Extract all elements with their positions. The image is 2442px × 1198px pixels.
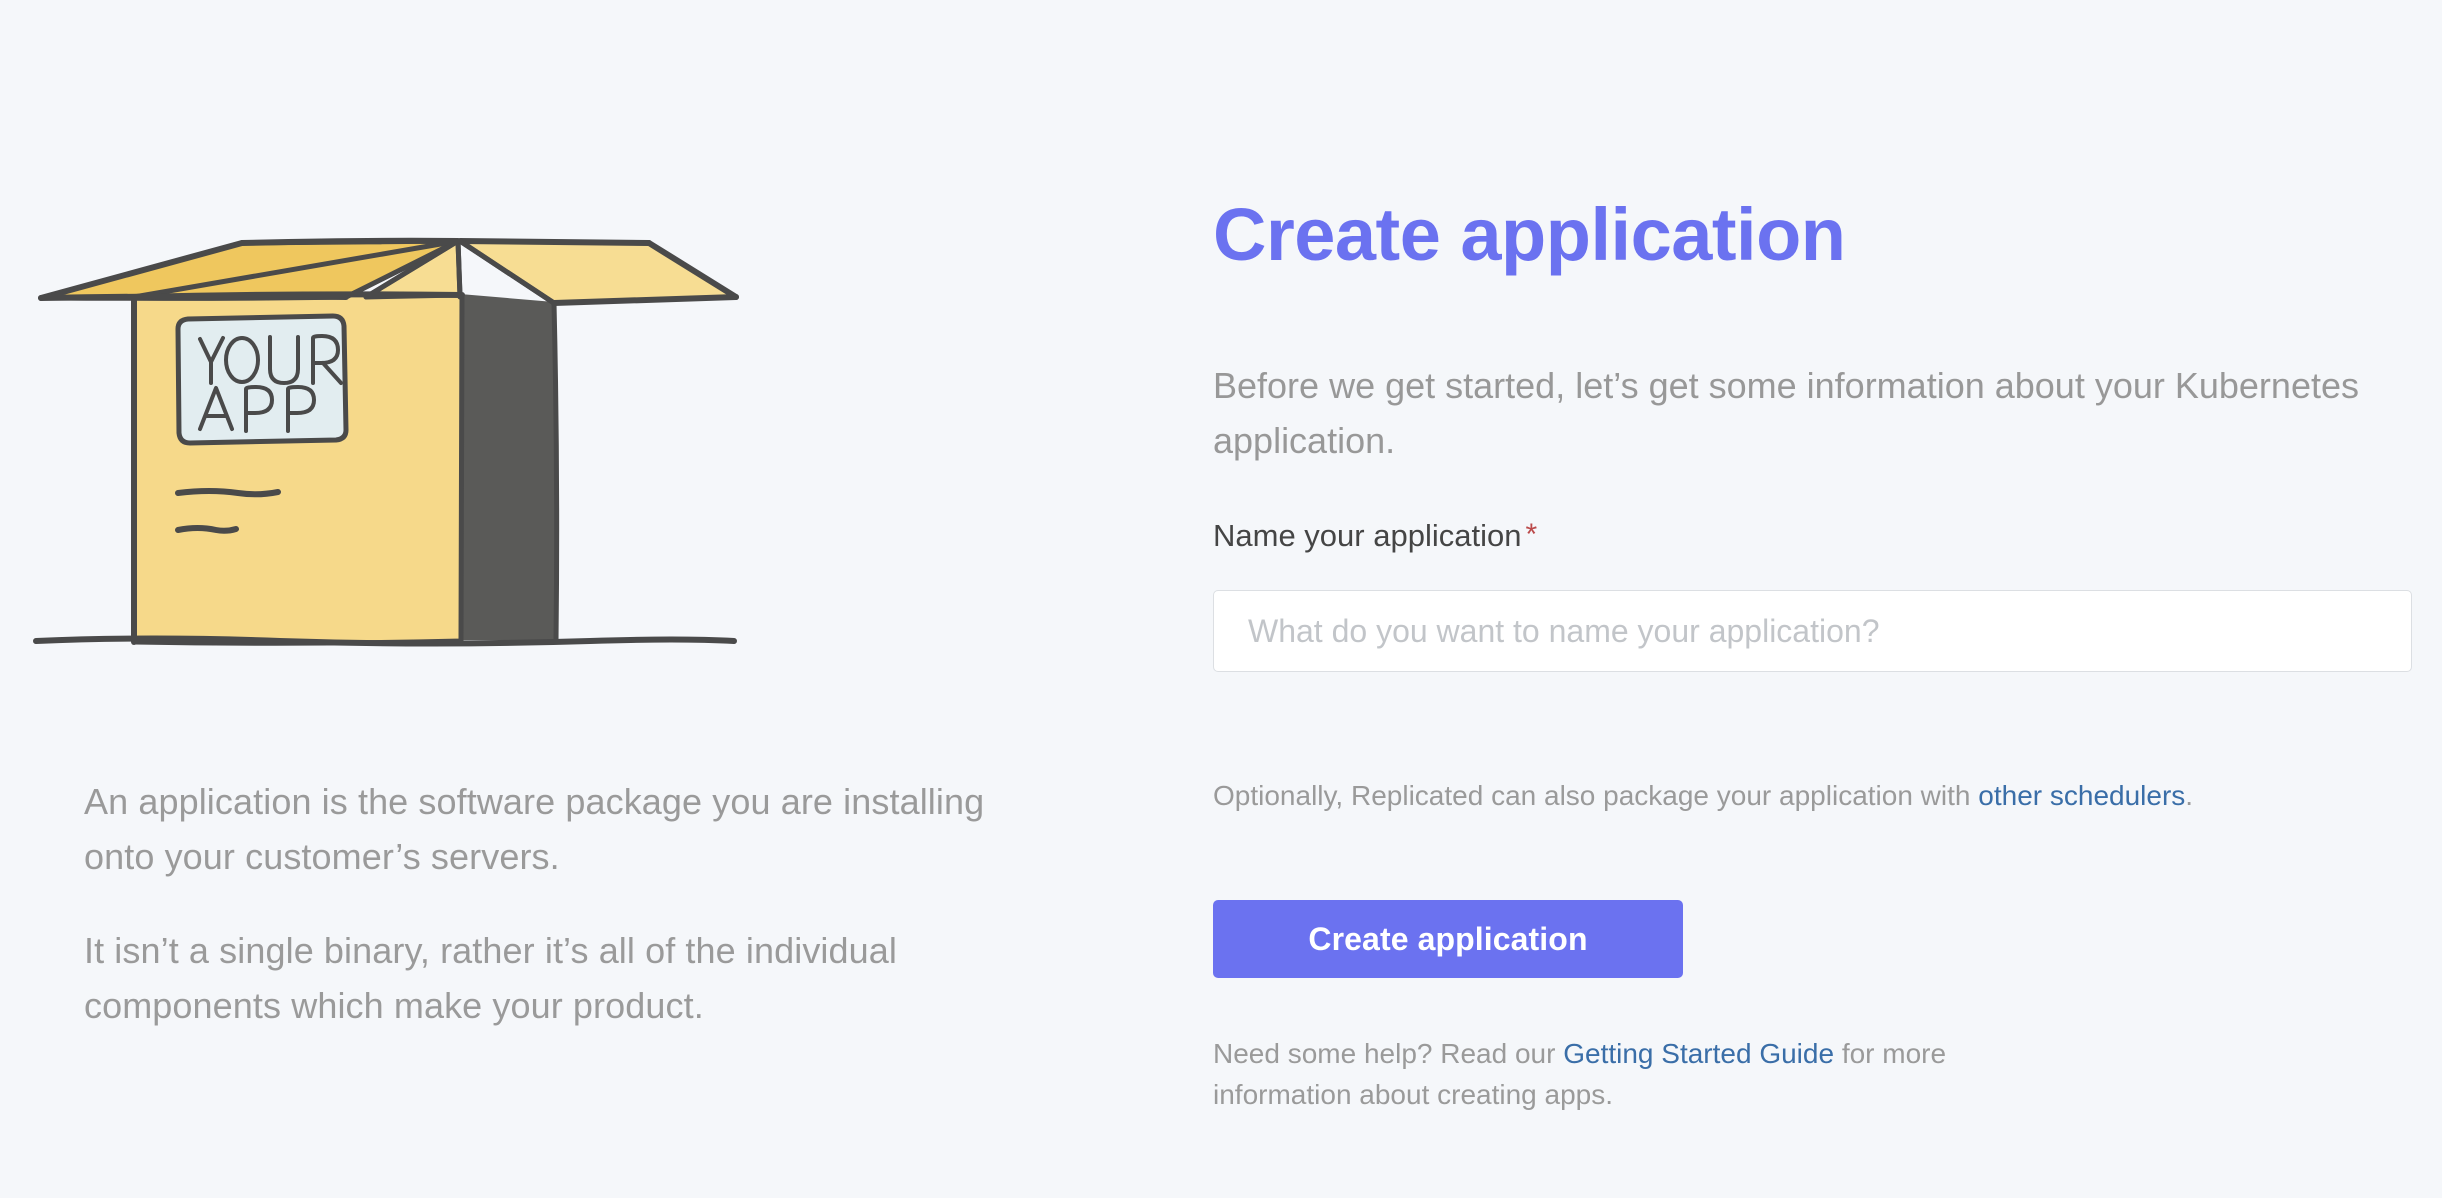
form-subtitle: Before we get started, let’s get some in…: [1213, 358, 2373, 468]
left-paragraph-1: An application is the software package y…: [84, 775, 1004, 884]
page-title: Create application: [1213, 198, 1846, 272]
required-marker-icon: *: [1525, 518, 1537, 551]
name-field-label: Name your application*: [1213, 517, 1537, 554]
create-application-page: An application is the software package y…: [0, 0, 2442, 1198]
other-schedulers-link[interactable]: other schedulers: [1978, 780, 2185, 811]
help-note: Need some help? Read our Getting Started…: [1213, 1034, 1973, 1115]
box-line-2: [178, 528, 236, 531]
left-info-column: An application is the software package y…: [0, 0, 1110, 1198]
box-line-1: [178, 491, 278, 494]
optional-note-suffix: .: [2185, 780, 2193, 811]
name-field-label-text: Name your application: [1213, 518, 1521, 553]
left-description: An application is the software package y…: [84, 775, 1004, 1034]
left-paragraph-2: It isn’t a single binary, rather it’s al…: [84, 924, 1004, 1033]
optional-schedulers-note: Optionally, Replicated can also package …: [1213, 776, 2193, 815]
create-application-form-column: Create application Before we get started…: [1213, 0, 2413, 1198]
cardboard-box-illustration: [30, 185, 1040, 730]
getting-started-guide-link[interactable]: Getting Started Guide: [1563, 1038, 1834, 1069]
create-application-button[interactable]: Create application: [1213, 900, 1683, 978]
help-note-prefix: Need some help? Read our: [1213, 1038, 1563, 1069]
optional-note-prefix: Optionally, Replicated can also package …: [1213, 780, 1978, 811]
box-interior-panel: [460, 294, 557, 640]
application-name-input[interactable]: [1213, 590, 2412, 672]
